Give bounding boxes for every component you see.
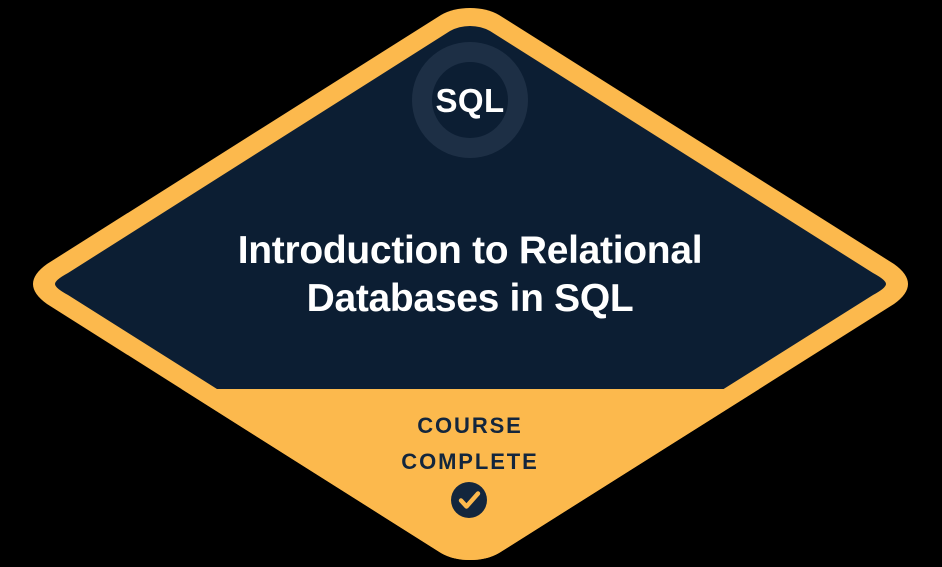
course-completion-badge: SQL Introduction to Relational Databases… [0, 0, 942, 567]
check-circle-icon [451, 482, 487, 518]
course-title-line-1: Introduction to Relational [238, 229, 703, 272]
status-label-line-1: COURSE [417, 413, 523, 438]
check-circle-background [451, 482, 487, 518]
technology-label: SQL [435, 82, 504, 119]
course-title-line-2: Databases in SQL [307, 277, 634, 320]
badge-canvas: SQL Introduction to Relational Databases… [0, 0, 942, 567]
status-label-line-2: COMPLETE [401, 449, 538, 474]
